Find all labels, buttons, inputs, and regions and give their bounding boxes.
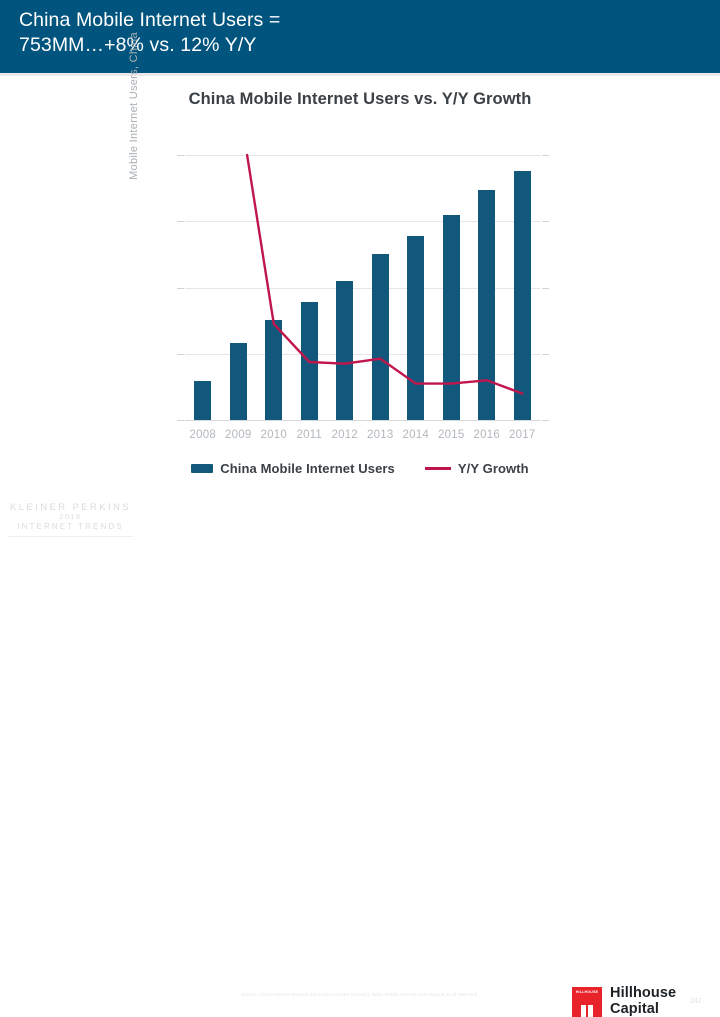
slide-footer: KLEINER PERKINS 2018 INTERNET TRENDS Sou… <box>0 486 720 540</box>
tick-mark-right <box>542 155 549 156</box>
legend-item-line[interactable]: Y/Y Growth <box>425 461 529 476</box>
x-tick-2012: 2012 <box>327 429 363 441</box>
source-note: Source: China Internet Network Informati… <box>200 991 520 998</box>
x-tick-2017: 2017 <box>505 429 541 441</box>
hillhouse-wordmark: Hillhouse Capital <box>610 986 676 1017</box>
slide-header: China Mobile Internet Users = 753MM…+8% … <box>0 0 720 73</box>
kleiner-perkins-year: 2018 <box>8 514 133 521</box>
hillhouse-mark-icon: HILLHOUSE <box>572 987 602 1017</box>
growth-line-path <box>247 155 522 394</box>
y-axis-label-left: Mobile Internet Users, China <box>128 11 140 201</box>
x-axis-labels: 2008200920102011201220132014201520162017 <box>185 420 540 446</box>
legend-line-swatch-icon <box>425 467 451 470</box>
x-tick-2014: 2014 <box>398 429 434 441</box>
hillhouse-mark-text: HILLHOUSE <box>572 990 602 994</box>
tick-mark-left <box>177 155 184 156</box>
slide-root: China Mobile Internet Users = 753MM…+8% … <box>0 0 720 540</box>
kleiner-perkins-subtitle: INTERNET TRENDS <box>8 522 133 531</box>
x-tick-2013: 2013 <box>363 429 399 441</box>
x-tick-2010: 2010 <box>256 429 292 441</box>
hillhouse-name-line1: Hillhouse <box>610 986 676 1002</box>
tick-mark-right <box>542 221 549 222</box>
tick-mark-left <box>177 221 184 222</box>
legend-item-bars[interactable]: China Mobile Internet Users <box>191 461 395 476</box>
footer-divider <box>8 536 133 537</box>
tick-mark-left <box>177 420 184 421</box>
hillhouse-capital-logo: HILLHOUSE Hillhouse Capital <box>572 986 676 1017</box>
legend-label-line: Y/Y Growth <box>458 461 529 476</box>
chart-container: China Mobile Internet Users vs. Y/Y Grow… <box>0 76 720 486</box>
hillhouse-mark-shape <box>581 1005 593 1017</box>
kleiner-perkins-name: KLEINER PERKINS <box>8 502 133 513</box>
tick-mark-left <box>177 288 184 289</box>
tick-mark-right <box>542 420 549 421</box>
hillhouse-name-line2: Capital <box>610 1002 676 1017</box>
x-tick-2009: 2009 <box>221 429 257 441</box>
plot-area: Mobile Internet Users, China Growth, Y/Y… <box>185 155 540 420</box>
x-tick-2016: 2016 <box>469 429 505 441</box>
line-series <box>185 155 540 420</box>
chart-title: China Mobile Internet Users vs. Y/Y Grow… <box>0 90 720 109</box>
x-tick-2008: 2008 <box>185 429 221 441</box>
tick-mark-right <box>542 288 549 289</box>
x-tick-2011: 2011 <box>292 429 328 441</box>
legend-bar-swatch-icon <box>191 464 213 473</box>
page-number: 242 <box>690 998 702 1005</box>
tick-mark-left <box>177 354 184 355</box>
header-title: China Mobile Internet Users = 753MM…+8% … <box>19 8 679 58</box>
legend-label-bars: China Mobile Internet Users <box>220 461 395 476</box>
x-tick-2015: 2015 <box>434 429 470 441</box>
tick-mark-right <box>542 354 549 355</box>
chart-legend: China Mobile Internet Users Y/Y Growth <box>0 461 720 476</box>
kleiner-perkins-logo: KLEINER PERKINS 2018 INTERNET TRENDS <box>8 502 133 531</box>
